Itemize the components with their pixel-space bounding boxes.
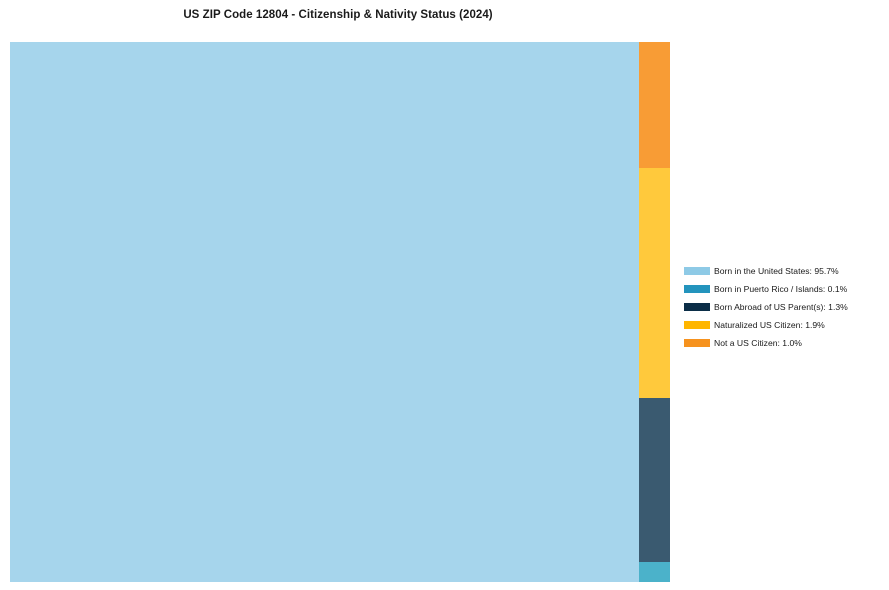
- legend-item[interactable]: Born Abroad of US Parent(s): 1.3%: [683, 298, 883, 316]
- chart-figure: US ZIP Code 12804 - Citizenship & Nativi…: [0, 0, 889, 590]
- legend-swatch-icon: [684, 339, 710, 347]
- chart-legend: Born in the United States: 95.7%Born in …: [683, 262, 883, 352]
- chart-title: US ZIP Code 12804 - Citizenship & Nativi…: [0, 9, 676, 21]
- legend-item[interactable]: Born in the United States: 95.7%: [683, 262, 883, 280]
- treemap-plot-area: [10, 42, 670, 582]
- legend-item-label: Born Abroad of US Parent(s): 1.3%: [714, 298, 848, 316]
- treemap-tile[interactable]: [10, 42, 639, 582]
- legend-item[interactable]: Born in Puerto Rico / Islands: 0.1%: [683, 280, 883, 298]
- legend-item-label: Not a US Citizen: 1.0%: [714, 334, 802, 352]
- treemap-tile[interactable]: [639, 168, 670, 398]
- legend-item[interactable]: Naturalized US Citizen: 1.9%: [683, 316, 883, 334]
- treemap-tile[interactable]: [639, 42, 670, 168]
- legend-swatch-icon: [684, 267, 710, 275]
- treemap-tile[interactable]: [639, 562, 670, 582]
- legend-item[interactable]: Not a US Citizen: 1.0%: [683, 334, 883, 352]
- legend-item-label: Naturalized US Citizen: 1.9%: [714, 316, 825, 334]
- legend-swatch-icon: [684, 285, 710, 293]
- treemap-tile[interactable]: [639, 398, 670, 562]
- legend-item-label: Born in the United States: 95.7%: [714, 262, 839, 280]
- legend-item-label: Born in Puerto Rico / Islands: 0.1%: [714, 280, 847, 298]
- legend-swatch-icon: [684, 321, 710, 329]
- legend-swatch-icon: [684, 303, 710, 311]
